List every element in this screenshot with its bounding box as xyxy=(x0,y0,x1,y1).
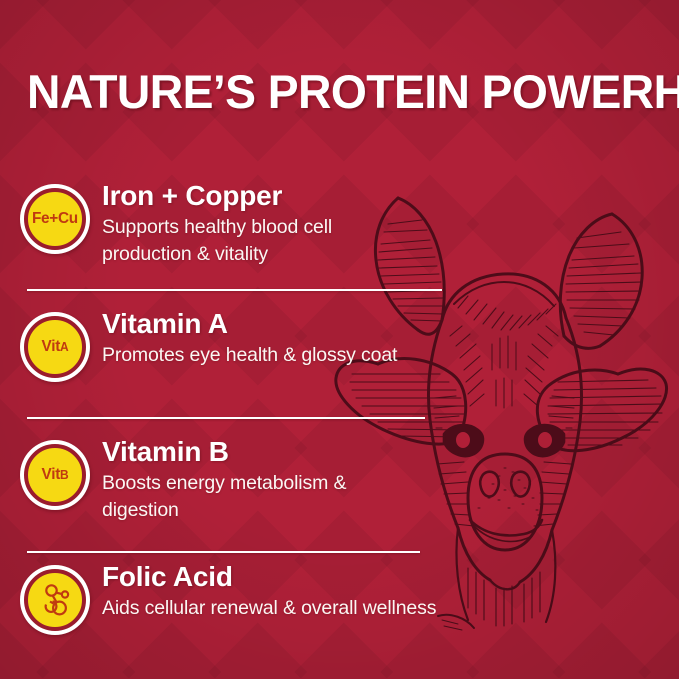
badge-inner-ring: Fe+Cu xyxy=(24,188,86,250)
feature-description: Supports healthy blood cell production &… xyxy=(102,214,402,268)
molecule-icon xyxy=(34,579,76,621)
badge-label-sub: B xyxy=(60,468,68,482)
feature-text-block: Folic Acid Aids cellular renewal & overa… xyxy=(102,561,492,622)
badge-label-main: Vit xyxy=(42,338,60,355)
feature-description: Boosts energy metabolism & digestion xyxy=(102,470,402,524)
divider-3 xyxy=(27,551,420,553)
feature-description: Promotes eye health & glossy coat xyxy=(102,342,402,369)
divider-2 xyxy=(27,417,425,419)
feature-text-block: Vitamin B Boosts energy metabolism & dig… xyxy=(102,436,492,524)
badge-vit-a: VitA xyxy=(20,312,90,382)
feature-heading: Folic Acid xyxy=(102,561,492,593)
feature-text-block: Vitamin A Promotes eye health & glossy c… xyxy=(102,308,492,369)
feature-description: Aids cellular renewal & overall wellness xyxy=(102,595,492,622)
element-symbol-icon: Fe+Cu xyxy=(32,211,78,227)
badge-fe-cu: Fe+Cu xyxy=(20,184,90,254)
badge-folic-acid xyxy=(20,565,90,635)
poster-canvas: NATURE’S PROTEIN POWERHOUSE Fe+Cu Iron +… xyxy=(0,0,679,679)
divider-1 xyxy=(27,289,442,291)
badge-label-sub: A xyxy=(60,340,68,354)
feature-heading: Iron + Copper xyxy=(102,180,492,212)
feature-text-block: Iron + Copper Supports healthy blood cel… xyxy=(102,180,492,268)
badge-vit-b: VitB xyxy=(20,440,90,510)
badge-inner-ring xyxy=(24,569,86,631)
feature-heading: Vitamin A xyxy=(102,308,492,340)
vitamin-b-icon: VitB xyxy=(42,467,69,483)
page-title: NATURE’S PROTEIN POWERHOUSE xyxy=(27,66,648,118)
badge-inner-ring: VitA xyxy=(24,316,86,378)
badge-inner-ring: VitB xyxy=(24,444,86,506)
feature-heading: Vitamin B xyxy=(102,436,492,468)
badge-label-main: Vit xyxy=(42,466,60,483)
vitamin-a-icon: VitA xyxy=(42,339,69,355)
